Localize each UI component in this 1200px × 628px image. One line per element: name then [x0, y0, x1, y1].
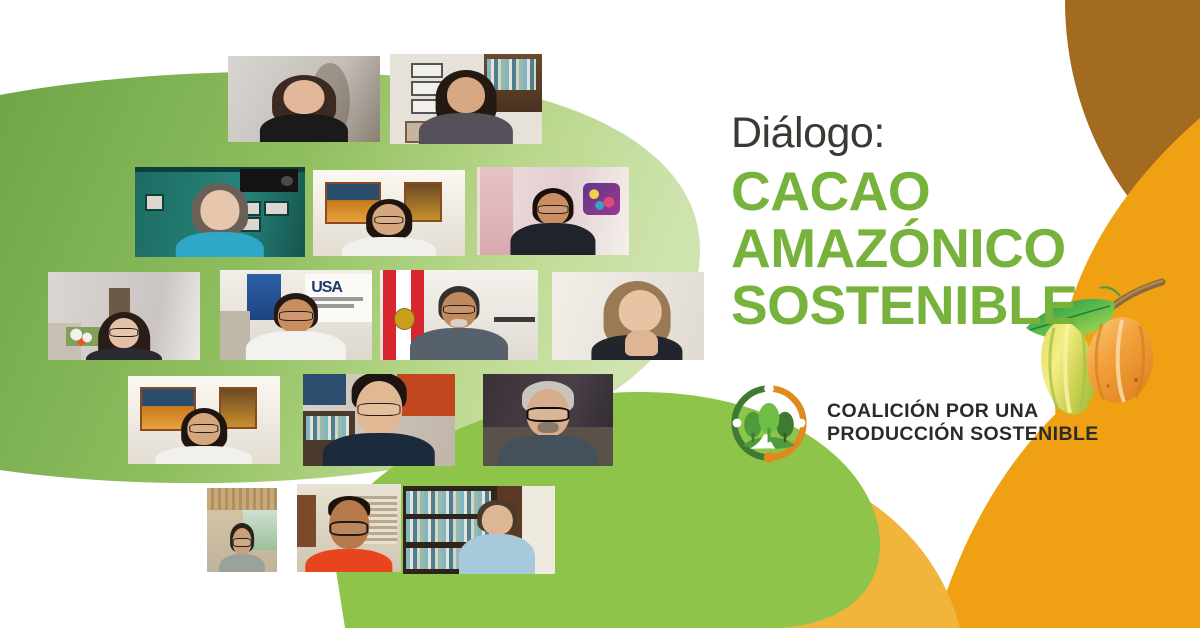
participant-tile: [403, 486, 555, 574]
ring-node-top: [764, 384, 774, 394]
participant-tile: [135, 167, 305, 257]
coalition-logo-mark: [729, 383, 809, 463]
sprout: [1100, 287, 1120, 296]
participant-tile: [228, 56, 380, 142]
headline-block: CACAO AMAZÓNICO SOSTENIBLE: [731, 163, 1077, 334]
ring-node-bottom: [764, 452, 774, 462]
participant-tile: [477, 167, 629, 255]
eyebrow-text: Diálogo:: [731, 112, 885, 155]
participant-tile: [380, 270, 538, 360]
participant-tile: USA: [220, 270, 372, 360]
coalition-logo-text-line-2: PRODUCCIÓN SOSTENIBLE: [827, 423, 1099, 446]
banner-root: USA: [0, 0, 1200, 628]
participant-tile: [303, 374, 455, 466]
participant-tile: [297, 484, 401, 572]
ring-node-right: [797, 419, 806, 428]
coalition-logo: COALICIÓN POR UNA PRODUCCIÓN SOSTENIBLE: [729, 383, 1099, 463]
headline-line-2: AMAZÓNICO: [731, 220, 1077, 277]
ring-node-left: [733, 419, 742, 428]
tree-center: [759, 403, 780, 442]
headline-line-1: CACAO: [731, 163, 1077, 220]
participant-tile: [552, 272, 704, 360]
participant-tile: [390, 54, 542, 144]
headline-line-3: SOSTENIBLE: [731, 277, 1077, 334]
participant-tile: [207, 488, 277, 572]
coalition-logo-text: COALICIÓN POR UNA PRODUCCIÓN SOSTENIBLE: [827, 400, 1099, 446]
coalition-logo-text-line-1: COALICIÓN POR UNA: [827, 400, 1099, 423]
participant-tile: [48, 272, 200, 360]
participant-tile: [313, 170, 465, 256]
participant-tile: [128, 376, 280, 464]
participant-tile: [483, 374, 613, 466]
